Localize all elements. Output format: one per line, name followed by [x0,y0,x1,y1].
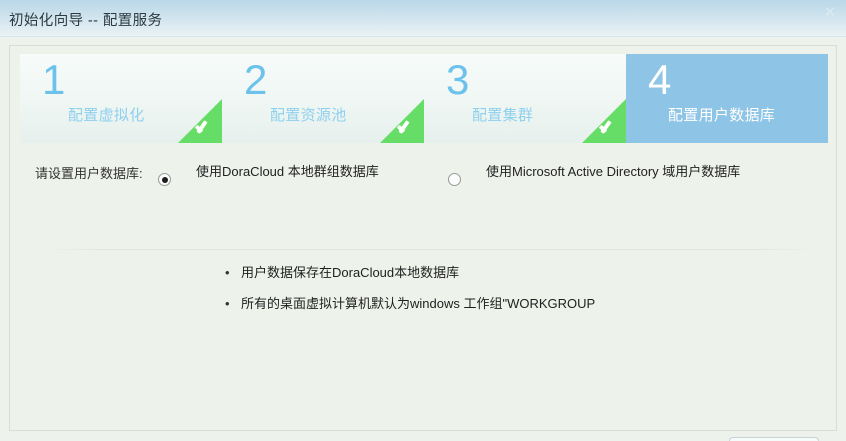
option-description-list: • 用户数据保存在DoraCloud本地数据库 • 所有的桌面虚拟计算机默认为w… [225,264,785,326]
list-item: • 所有的桌面虚拟计算机默认为windows 工作组"WORKGROUP [225,295,785,313]
step-3-completed-check-icon [582,99,626,143]
radio-icon-selected[interactable] [158,173,171,186]
bullet-icon: • [225,264,230,282]
step-4-number: 4 [648,56,671,104]
content-frame: 1 配置虚拟化 2 配置资源池 3 配置集群 [9,45,837,431]
radio-option-active-directory[interactable]: 使用Microsoft Active Directory 域用户数据库 [448,162,768,186]
user-database-options: 请设置用户数据库: 使用DoraCloud 本地群组数据库 使用Microsof… [20,152,828,214]
radio-icon-unselected[interactable] [448,173,461,186]
step-3-label: 配置集群 [472,104,533,125]
step-3-configure-cluster[interactable]: 3 配置集群 [424,54,626,143]
section-divider [44,249,814,250]
step-bar: 1 配置虚拟化 2 配置资源池 3 配置集群 [20,54,828,143]
step-4-label: 配置用户数据库 [668,104,775,125]
step-1-number: 1 [42,56,65,104]
step-2-label: 配置资源池 [270,104,347,125]
radio-label-active-directory: 使用Microsoft Active Directory 域用户数据库 [486,162,740,182]
step-1-label: 配置虚拟化 [68,104,145,125]
step-3-number: 3 [446,56,469,104]
radio-label-local-group-database: 使用DoraCloud 本地群组数据库 [196,162,379,182]
step-2-configure-resource-pool[interactable]: 2 配置资源池 [222,54,424,143]
list-item-text: 用户数据保存在DoraCloud本地数据库 [241,265,459,280]
step-1-configure-virtualization[interactable]: 1 配置虚拟化 [20,54,222,143]
step-2-number: 2 [244,56,267,104]
step-1-completed-check-icon [178,99,222,143]
bullet-icon: • [225,295,230,313]
step-4-configure-user-database[interactable]: 4 配置用户数据库 [626,54,828,143]
next-button[interactable]: 下一步 [729,437,819,441]
prompt-label: 请设置用户数据库: [35,164,147,183]
radio-option-local-group-database[interactable]: 使用DoraCloud 本地群组数据库 [158,162,418,186]
title-bar: 初始化向导 -- 配置服务 ✕ [0,0,846,38]
wizard-body: 1 配置虚拟化 2 配置资源池 3 配置集群 [0,38,846,441]
list-item-text: 所有的桌面虚拟计算机默认为windows 工作组"WORKGROUP [241,296,595,311]
close-icon[interactable]: ✕ [818,3,842,23]
wizard-window: 初始化向导 -- 配置服务 ✕ 1 配置虚拟化 2 配置资源池 [0,0,846,441]
step-2-completed-check-icon [380,99,424,143]
window-title: 初始化向导 -- 配置服务 [9,9,162,30]
list-item: • 用户数据保存在DoraCloud本地数据库 [225,264,785,282]
